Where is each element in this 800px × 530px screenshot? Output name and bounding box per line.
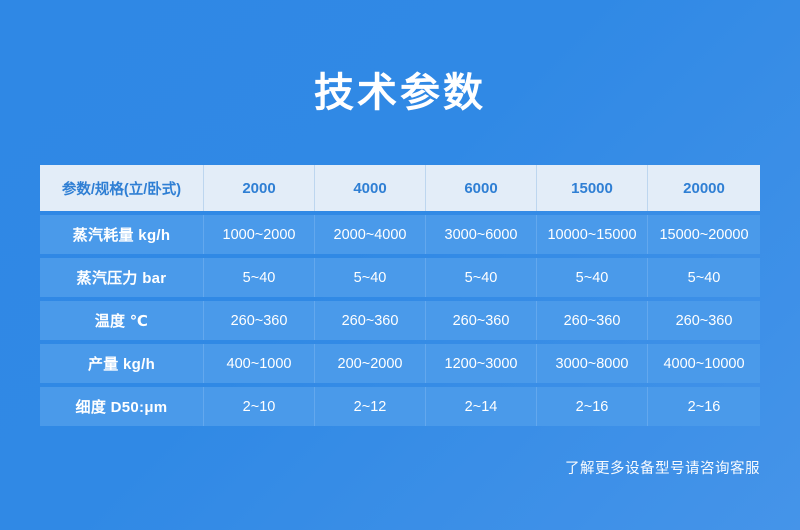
table-row: 细度 D50:μm 2~10 2~12 2~14 2~16 2~16 [40,387,760,426]
table-row: 产量 kg/h 400~1000 200~2000 1200~3000 3000… [40,344,760,383]
table-header-row: 参数/规格(立/卧式) 2000 4000 6000 15000 20000 [40,165,760,211]
spec-sheet-page: 技术参数 参数/规格(立/卧式) 2000 4000 6000 15000 20… [0,0,800,530]
footer-note: 了解更多设备型号请咨询客服 [565,457,760,478]
cell-temperature-4000: 260~360 [315,301,426,340]
column-header-20000: 20000 [648,165,760,211]
column-header-6000: 6000 [426,165,537,211]
cell-steam-pressure-15000: 5~40 [537,258,648,297]
cell-steam-consumption-6000: 3000~6000 [426,215,537,254]
cell-temperature-20000: 260~360 [648,301,760,340]
cell-fineness-4000: 2~12 [315,387,426,426]
cell-output-15000: 3000~8000 [537,344,648,383]
row-label-steam-consumption: 蒸汽耗量 kg/h [40,215,204,254]
column-header-15000: 15000 [537,165,648,211]
cell-steam-pressure-20000: 5~40 [648,258,760,297]
cell-steam-pressure-4000: 5~40 [315,258,426,297]
row-label-output: 产量 kg/h [40,344,204,383]
table-row: 蒸汽压力 bar 5~40 5~40 5~40 5~40 5~40 [40,258,760,297]
table-row: 温度 ℃ 260~360 260~360 260~360 260~360 260… [40,301,760,340]
cell-steam-consumption-4000: 2000~4000 [315,215,426,254]
cell-steam-pressure-6000: 5~40 [426,258,537,297]
column-header-parameter: 参数/规格(立/卧式) [40,165,204,211]
cell-fineness-15000: 2~16 [537,387,648,426]
cell-output-2000: 400~1000 [204,344,315,383]
row-label-steam-pressure: 蒸汽压力 bar [40,258,204,297]
cell-temperature-15000: 260~360 [537,301,648,340]
cell-steam-consumption-2000: 1000~2000 [204,215,315,254]
cell-output-4000: 200~2000 [315,344,426,383]
column-header-4000: 4000 [315,165,426,211]
cell-temperature-6000: 260~360 [426,301,537,340]
cell-steam-pressure-2000: 5~40 [204,258,315,297]
row-label-fineness: 细度 D50:μm [40,387,204,426]
cell-fineness-2000: 2~10 [204,387,315,426]
column-header-2000: 2000 [204,165,315,211]
row-label-temperature: 温度 ℃ [40,301,204,340]
cell-temperature-2000: 260~360 [204,301,315,340]
cell-output-6000: 1200~3000 [426,344,537,383]
cell-steam-consumption-15000: 10000~15000 [537,215,648,254]
cell-fineness-6000: 2~14 [426,387,537,426]
page-title: 技术参数 [0,66,800,120]
cell-output-20000: 4000~10000 [648,344,760,383]
technical-parameters-table: 参数/规格(立/卧式) 2000 4000 6000 15000 20000 蒸… [40,165,760,426]
table-row: 蒸汽耗量 kg/h 1000~2000 2000~4000 3000~6000 … [40,215,760,254]
cell-fineness-20000: 2~16 [648,387,760,426]
cell-steam-consumption-20000: 15000~20000 [648,215,760,254]
